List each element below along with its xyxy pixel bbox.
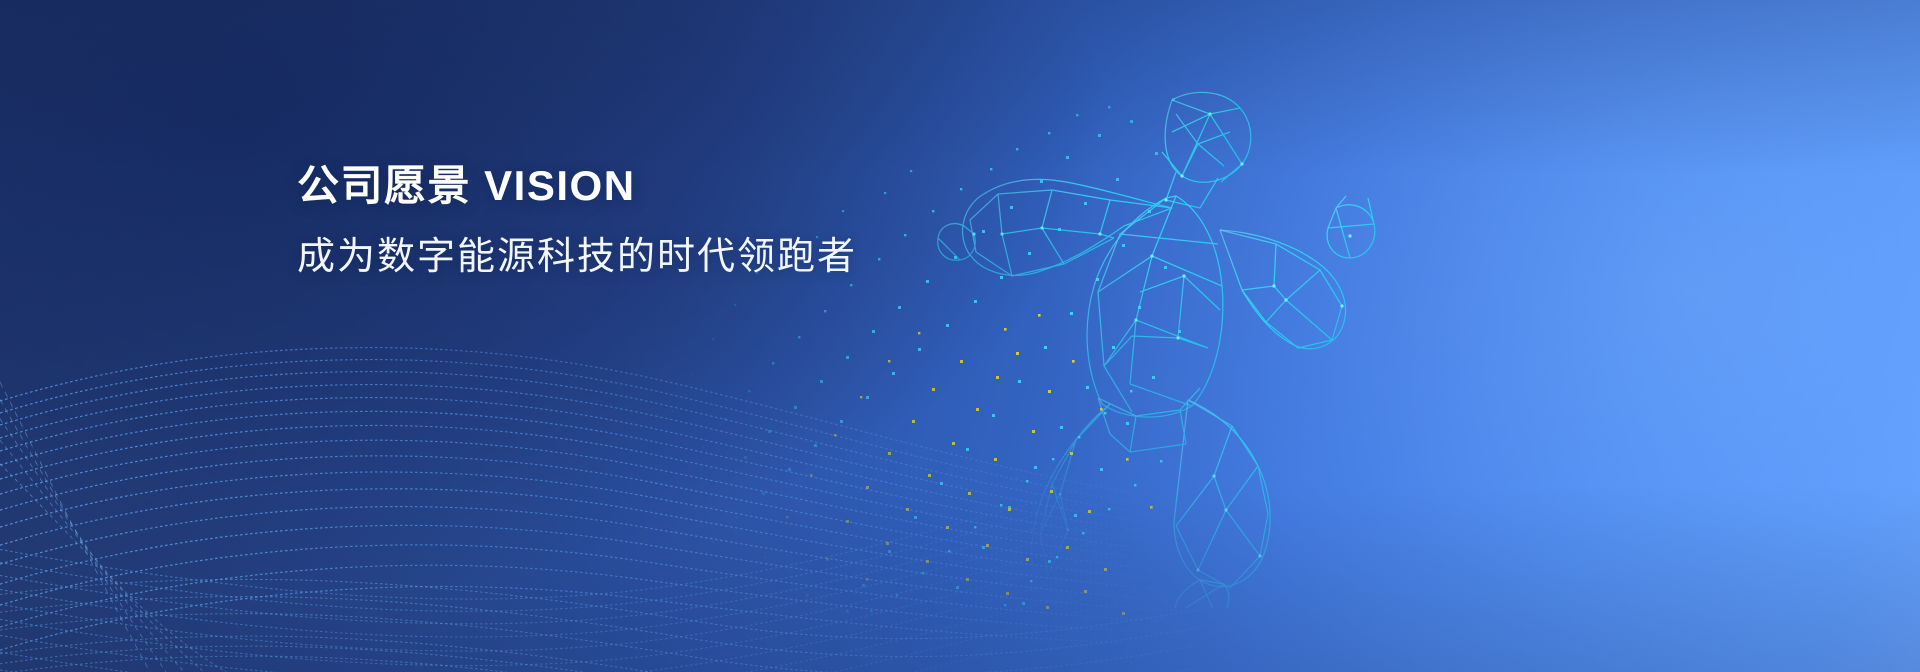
hero-copy-block: 公司愿景 VISION 成为数字能源科技的时代领跑者 bbox=[297, 160, 857, 282]
page-title: 公司愿景 VISION bbox=[297, 160, 857, 213]
vision-hero-banner: 公司愿景 VISION 成为数字能源科技的时代领跑者 bbox=[0, 0, 1920, 672]
background-vignette bbox=[0, 0, 1920, 672]
page-subtitle: 成为数字能源科技的时代领跑者 bbox=[297, 233, 857, 282]
